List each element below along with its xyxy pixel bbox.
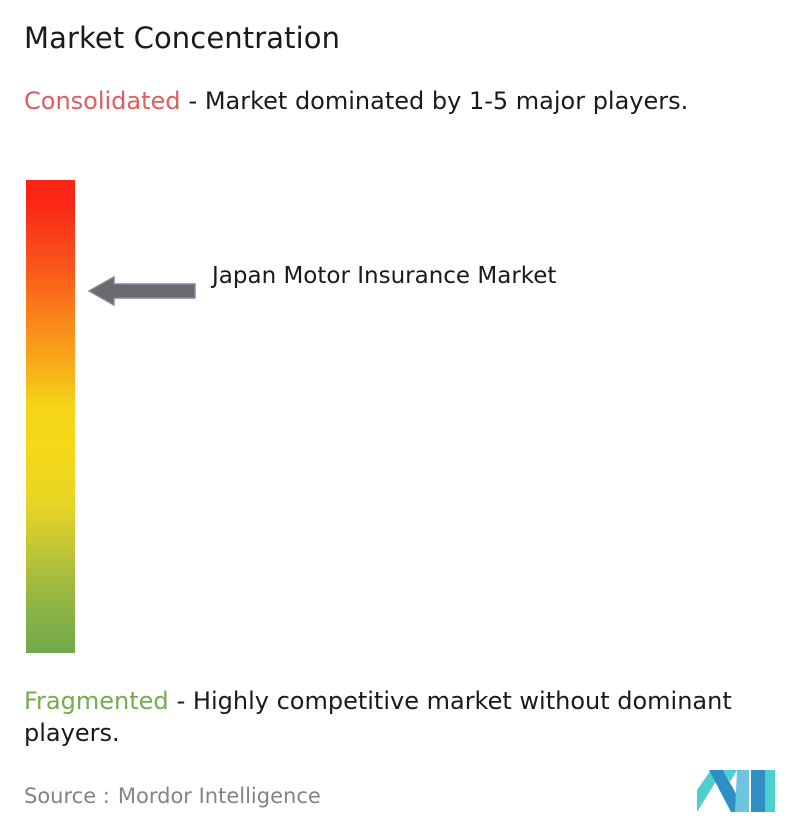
consolidated-description: - Market dominated by 1-5 major players. (189, 87, 689, 115)
concentration-gradient-bar (26, 180, 75, 653)
market-pointer-arrow (88, 272, 196, 310)
consolidated-caption: Consolidated- Market dominated by 1-5 ma… (24, 85, 772, 117)
page-title: Market Concentration (24, 20, 340, 56)
source-value: Mordor Intelligence (118, 784, 321, 808)
fragmented-caption: Fragmented- Highly competitive market wi… (24, 685, 780, 749)
source-label: Source : (24, 784, 110, 808)
mi-monogram-icon (697, 768, 775, 816)
left-arrow-icon (88, 272, 196, 310)
market-concentration-infographic: Market Concentration Consolidated- Marke… (0, 0, 796, 834)
mordor-intelligence-logo (697, 768, 775, 816)
source-attribution: Source :Mordor Intelligence (24, 782, 321, 810)
market-marker-label: Japan Motor Insurance Market (212, 258, 612, 294)
fragmented-keyword: Fragmented (24, 687, 169, 715)
consolidated-keyword: Consolidated (24, 87, 181, 115)
